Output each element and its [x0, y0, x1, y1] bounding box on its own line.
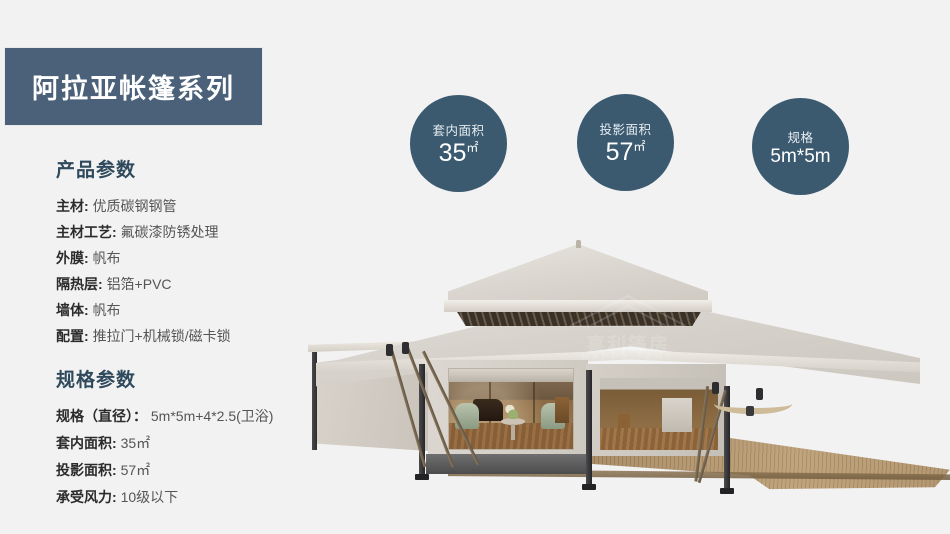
product-spec-page: 阿拉亚帐篷系列 套内面积 35㎡ 投影面积 57㎡ 规格 5m*5m 产品参数 …	[0, 0, 950, 534]
param-label: 承受风力:	[56, 489, 117, 505]
param-label: 投影面积:	[56, 462, 117, 478]
param-label: 主材:	[56, 198, 89, 214]
param-row: 主材: 优质碳钢钢管	[56, 193, 231, 219]
param-label: 墙体:	[56, 302, 89, 318]
param-row: 外膜: 帆布	[56, 245, 231, 271]
param-label: 套内面积:	[56, 435, 117, 451]
guy-line-cap	[402, 342, 409, 354]
param-value: 帆布	[93, 302, 121, 318]
param-value: 铝箔+PVC	[107, 276, 172, 292]
page-title: 阿拉亚帐篷系列	[32, 67, 235, 106]
product-parameters-section: 产品参数 主材: 优质碳钢钢管 主材工艺: 氟碳漆防锈处理 外膜: 帆布 隔热层…	[56, 155, 231, 349]
param-label: 配置:	[56, 328, 89, 344]
param-label: 隔热层:	[56, 276, 103, 292]
post-base	[582, 484, 596, 490]
status-badge-value: 35㎡	[439, 140, 479, 166]
status-badge-value: 5m*5m	[770, 147, 830, 167]
guy-line-cap	[386, 344, 393, 356]
param-row: 投影面积: 57㎡	[56, 457, 273, 484]
transom-panel	[449, 369, 573, 382]
param-row: 承受风力: 10级以下	[56, 484, 273, 511]
status-badge-label: 规格	[787, 127, 813, 146]
param-row: 隔热层: 铝箔+PVC	[56, 271, 231, 297]
spec-parameters-section: 规格参数 规格（直径）： 5m*5m+4*2.5(卫浴) 套内面积: 35㎡ 投…	[56, 365, 273, 511]
param-value: 优质碳钢钢管	[93, 198, 177, 214]
status-badge: 规格 5m*5m	[752, 98, 849, 195]
param-row: 规格（直径）： 5m*5m+4*2.5(卫浴)	[56, 403, 273, 430]
post-base	[415, 474, 429, 480]
param-value: 帆布	[93, 250, 121, 266]
title-banner: 阿拉亚帐篷系列	[5, 48, 262, 125]
param-value: 35㎡	[121, 435, 151, 451]
param-row: 墙体: 帆布	[56, 297, 231, 323]
param-value: 5m*5m+4*2.5(卫浴)	[151, 408, 274, 424]
roof-finial	[576, 240, 581, 248]
param-value: 10级以下	[121, 489, 179, 505]
upper-roof-rim	[444, 300, 712, 312]
section-heading-spec: 规格参数	[56, 365, 273, 392]
param-row: 主材工艺: 氟碳漆防锈处理	[56, 219, 231, 245]
roof-vent-lattice	[456, 310, 702, 326]
interior-flower-vase	[505, 405, 521, 419]
support-post	[586, 370, 592, 486]
status-badge-value: 57㎡	[606, 139, 646, 165]
interior-round-table	[501, 418, 525, 425]
post-base	[720, 488, 734, 494]
status-badge: 套内面积 35㎡	[410, 95, 507, 192]
interior-cabinet	[555, 397, 569, 423]
hammock-knot	[746, 406, 754, 416]
second-bay-divider	[662, 398, 692, 432]
param-label: 主材工艺:	[56, 224, 117, 240]
param-label: 规格（直径）：	[56, 408, 147, 424]
status-badge-label: 投影面积	[599, 119, 651, 138]
param-row: 配置: 推拉门+机械锁/磁卡锁	[56, 323, 231, 349]
param-value: 推拉门+机械锁/磁卡锁	[93, 328, 231, 344]
status-badge-label: 套内面积	[432, 120, 484, 139]
param-value: 57㎡	[121, 462, 151, 478]
param-label: 外膜:	[56, 250, 89, 266]
stat-badge-group: 套内面积 35㎡ 投影面积 57㎡ 规格 5m*5m	[410, 94, 910, 194]
section-heading-product: 产品参数	[56, 155, 231, 182]
second-bay-cabinet	[618, 414, 630, 428]
tent-illustration: 喜利篷房 HAPPY TENT	[300, 240, 950, 495]
param-row: 套内面积: 35㎡	[56, 430, 273, 457]
status-badge: 投影面积 57㎡	[577, 94, 674, 191]
param-value: 氟碳漆防锈处理	[121, 224, 219, 240]
